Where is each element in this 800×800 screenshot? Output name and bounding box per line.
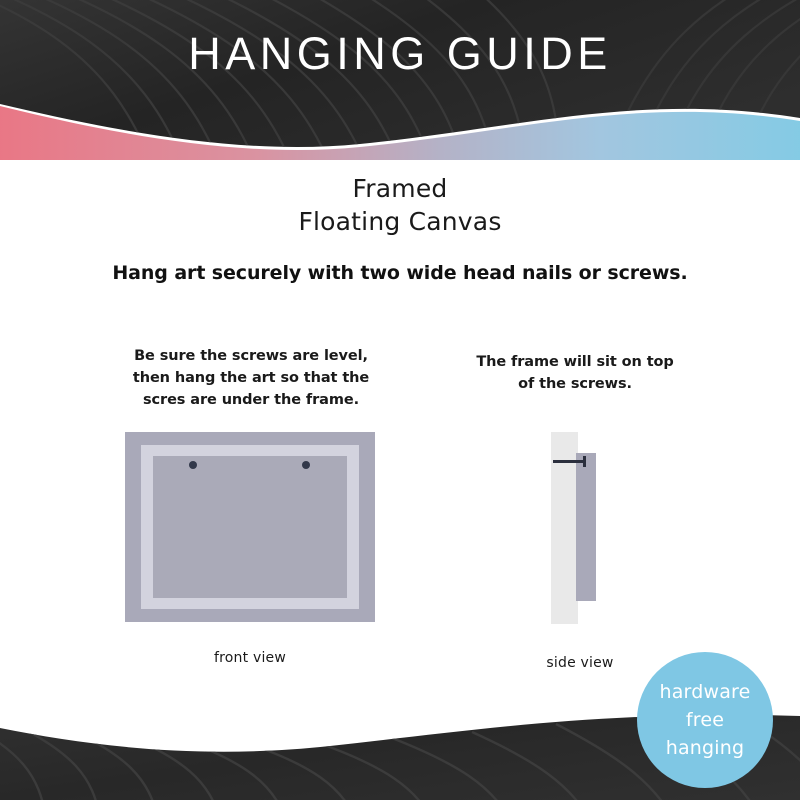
product-title-line2: Floating Canvas [0,205,800,238]
front-view-caption-line1: Be sure the screws are level, [112,345,390,367]
side-view-caption-line1: The frame will sit on top [447,351,703,373]
front-view-label: front view [150,650,350,666]
page-title: HANGING GUIDE [0,31,800,76]
front-view-caption-line3: scres are under the frame. [112,389,390,411]
screw-head-icon [583,456,586,467]
hanging-guide-page: HANGING GUIDE Framed Floating Canvas Han… [0,0,800,800]
canvas-surface [153,456,347,598]
front-view-caption-line2: then hang the art so that the [112,367,390,389]
badge-line3: hanging [666,734,745,762]
side-view-caption: The frame will sit on top of the screws. [447,351,703,395]
side-view-caption-line2: of the screws. [447,373,703,395]
header-wave-graphic [0,0,800,160]
front-view-caption: Be sure the screws are level, then hang … [112,345,390,411]
badge-line1: hardware [659,678,750,706]
screw-shaft-icon [553,460,585,463]
front-view-diagram [125,432,375,622]
side-view-diagram [551,432,641,624]
header-banner: HANGING GUIDE [0,0,800,160]
screw-dot-right-icon [302,461,310,469]
instruction-lede: Hang art securely with two wide head nai… [0,262,800,284]
product-title-line1: Framed [0,172,800,205]
frame-mat-border [141,445,359,609]
side-view-label: side view [490,655,670,671]
badge-line2: free [686,706,724,734]
product-title: Framed Floating Canvas [0,172,800,238]
frame-profile [576,453,596,601]
screw-dot-left-icon [189,461,197,469]
hardware-free-badge: hardware free hanging [637,652,773,788]
